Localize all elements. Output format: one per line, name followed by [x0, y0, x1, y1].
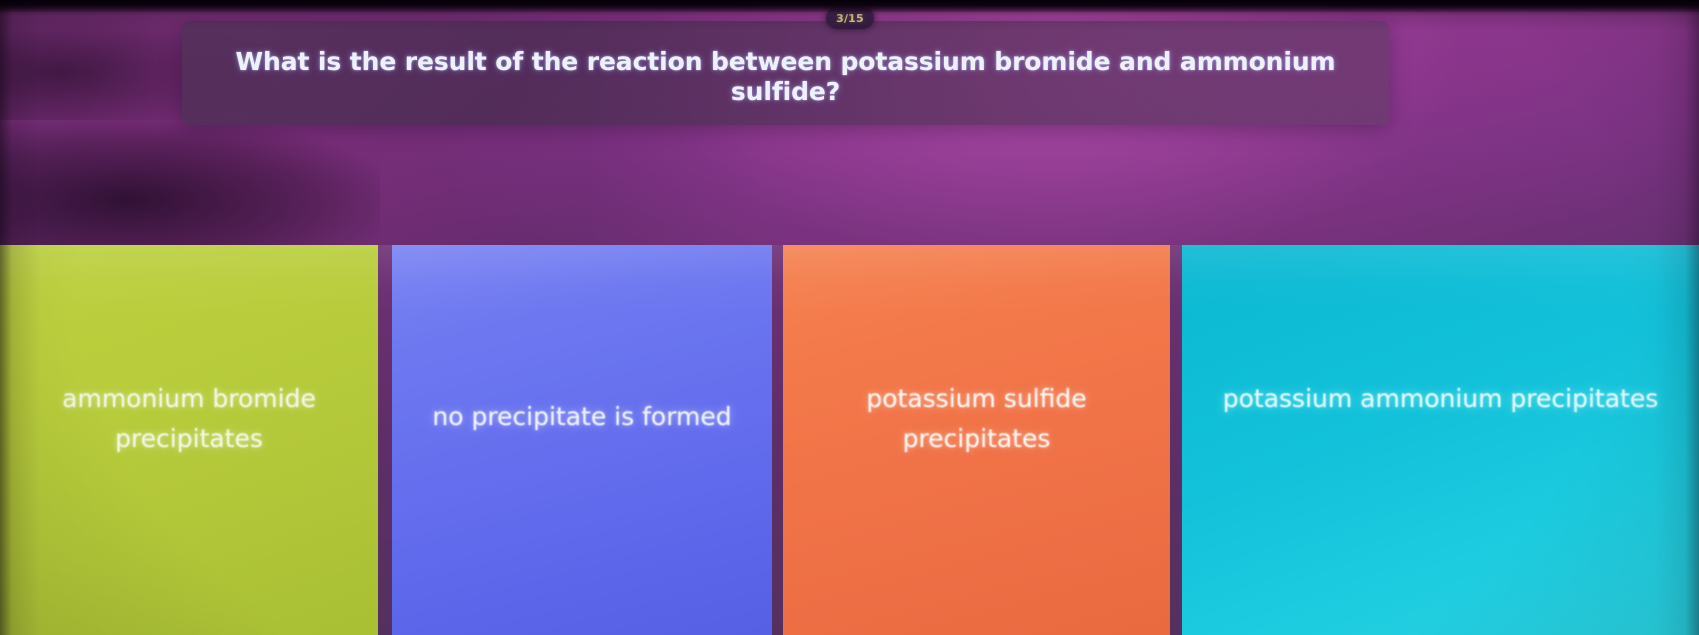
answer-option-2[interactable]: no precipitate is formed: [392, 245, 772, 635]
answer-option-3[interactable]: potassium sulfide precipitates: [783, 245, 1170, 635]
answer-option-4[interactable]: potassium ammonium precipitates: [1182, 245, 1699, 635]
answer-option-4-label: potassium ammonium precipitates: [1182, 379, 1699, 419]
tile-divider-1: [378, 245, 392, 635]
quiz-screen: 3/15 What is the result of the reaction …: [0, 0, 1699, 635]
question-counter-label: 3/15: [836, 12, 864, 25]
answer-option-3-label: potassium sulfide precipitates: [783, 379, 1170, 458]
answer-option-2-label: no precipitate is formed: [392, 397, 772, 437]
question-text: What is the result of the reaction betwe…: [182, 47, 1389, 107]
answer-option-1[interactable]: ammonium bromide precipitates: [0, 245, 378, 635]
answer-option-1-label: ammonium bromide precipitates: [0, 379, 378, 458]
answer-options-grid: ammonium bromide precipitates no precipi…: [0, 245, 1699, 635]
tile-divider-3: [1170, 245, 1182, 635]
screen-top-bezel: [0, 0, 1699, 12]
question-banner: What is the result of the reaction betwe…: [182, 21, 1389, 125]
tile-divider-2: [772, 245, 783, 635]
